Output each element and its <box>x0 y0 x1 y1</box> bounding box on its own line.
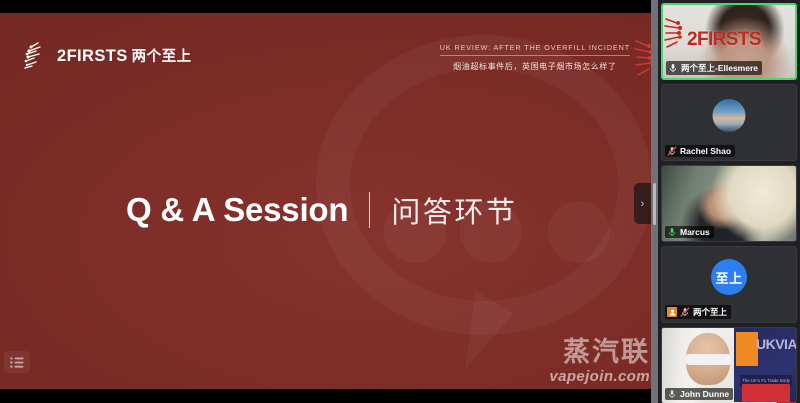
stage-scrollbar[interactable] <box>651 0 658 403</box>
slide-list-button[interactable] <box>4 351 30 373</box>
microphone-icon <box>667 389 677 399</box>
participant-name: 两个至上 <box>693 306 727 318</box>
banner-brand: UKVIA <box>756 336 797 352</box>
participant-name-plate: Marcus <box>665 226 714 238</box>
banner-red-block <box>742 384 790 402</box>
slide-title-cn: 问答环节 <box>391 189 517 231</box>
participant-name: John Dunne <box>680 389 729 399</box>
microphone-muted-icon <box>680 307 690 317</box>
background-banner: UKVIA The UK's #1 Trade Body <box>734 328 796 402</box>
watermark-cn: 蒸汽联 <box>549 339 650 366</box>
participant-name: Marcus <box>680 227 710 237</box>
video-overlay-logo: 2FIRSTS <box>687 29 761 51</box>
presentation-slide: 2FIRSTS两个至上 UK REVIEW: AFTER THE OVERFIL… <box>0 13 658 389</box>
participant-tile[interactable]: UKVIA The UK's #1 Trade Body John Dunne <box>661 327 797 403</box>
slide-title-en: Q & A Session <box>126 191 348 229</box>
list-icon <box>10 357 24 368</box>
slide-header: 2FIRSTS两个至上 UK REVIEW: AFTER THE OVERFIL… <box>0 13 658 75</box>
avatar <box>713 99 746 132</box>
participant-video-panel: 2FIRSTS 两个至上-Ellesmere Rach <box>658 0 800 403</box>
stage-scrollbar-thumb[interactable] <box>653 183 656 225</box>
participant-tile[interactable]: 至上 两个至上 <box>661 246 797 323</box>
avatar: 至上 <box>711 259 747 295</box>
ellipsis-dot-decoration <box>548 201 610 263</box>
microphone-muted-icon <box>667 146 677 156</box>
brand-name-cn: 两个至上 <box>132 49 192 65</box>
participant-name: 两个至上-Ellesmere <box>681 62 758 74</box>
banner-orange-block <box>736 332 758 366</box>
microphone-icon <box>668 63 678 73</box>
shared-screen-stage: 2FIRSTS两个至上 UK REVIEW: AFTER THE OVERFIL… <box>0 0 658 403</box>
watermark-url: vapejoin.com <box>549 368 650 385</box>
slide-header-titles: UK REVIEW: AFTER THE OVERFILL INCIDENT 烟… <box>440 43 630 72</box>
participant-name-plate: 两个至上-Ellesmere <box>666 61 762 75</box>
slide-header-title-en: UK REVIEW: AFTER THE OVERFILL INCIDENT <box>440 43 630 56</box>
host-badge <box>667 307 677 317</box>
video-conference-window: 2FIRSTS两个至上 UK REVIEW: AFTER THE OVERFIL… <box>0 0 800 403</box>
participant-tile[interactable]: Rachel Shao <box>661 84 797 161</box>
participant-tile[interactable]: 2FIRSTS 两个至上-Ellesmere <box>661 3 797 80</box>
brand-logo: 2FIRSTS两个至上 <box>22 41 192 69</box>
watermark: 蒸汽联 vapejoin.com <box>549 339 650 385</box>
participant-name: Rachel Shao <box>680 146 731 156</box>
participant-name-plate: 两个至上 <box>665 305 731 319</box>
participant-name-plate: John Dunne <box>665 388 733 400</box>
participant-tile[interactable]: Marcus <box>661 165 797 242</box>
sunglasses <box>686 354 731 365</box>
speech-bubble-ring-decoration <box>316 35 652 335</box>
participant-name-plate: Rachel Shao <box>665 145 735 157</box>
brand-name: 2FIRSTS <box>57 47 128 65</box>
title-divider <box>369 192 370 228</box>
microphone-icon <box>667 227 677 237</box>
vapor-spark-icon <box>22 41 48 69</box>
person-icon <box>669 309 676 316</box>
slide-title: Q & A Session 问答环节 <box>126 189 517 231</box>
slide-header-title-cn: 烟油超标事件后，英国电子烟市场怎么样了 <box>440 61 630 72</box>
brand-logo-text: 2FIRSTS两个至上 <box>57 45 192 66</box>
red-spark-icon <box>664 16 686 50</box>
collapse-panel-button[interactable]: › <box>634 183 651 224</box>
